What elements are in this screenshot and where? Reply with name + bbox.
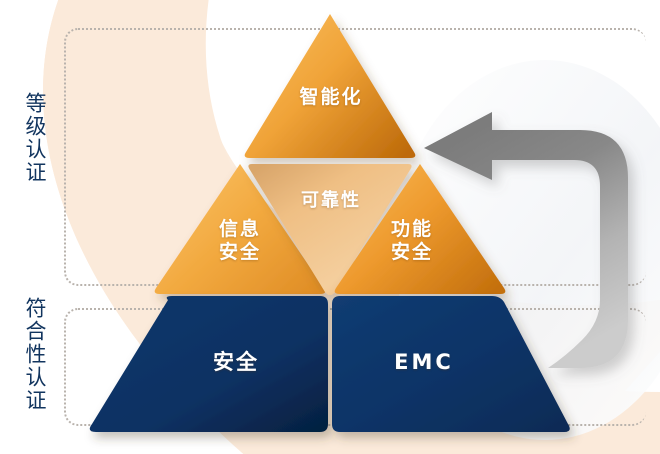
shape-label-reliability: 可靠性	[272, 190, 390, 212]
shape-label-safety: 安全	[166, 350, 306, 376]
shape-label-emc: EMC	[350, 350, 498, 376]
side-label-grade-certification: 等级认证	[24, 92, 46, 184]
shape-label-funcsafe: 功能 安全	[364, 218, 460, 264]
side-label-compliance-certification: 符合性认证	[24, 297, 46, 412]
diagram-canvas: 智能化 信息 安全 可靠性 功能 安全 安全 EMC 等级认证 符合性认证	[0, 0, 660, 454]
shape-label-infosec: 信息 安全	[192, 218, 288, 264]
shape-label-intelligent: 智能化	[270, 86, 392, 109]
